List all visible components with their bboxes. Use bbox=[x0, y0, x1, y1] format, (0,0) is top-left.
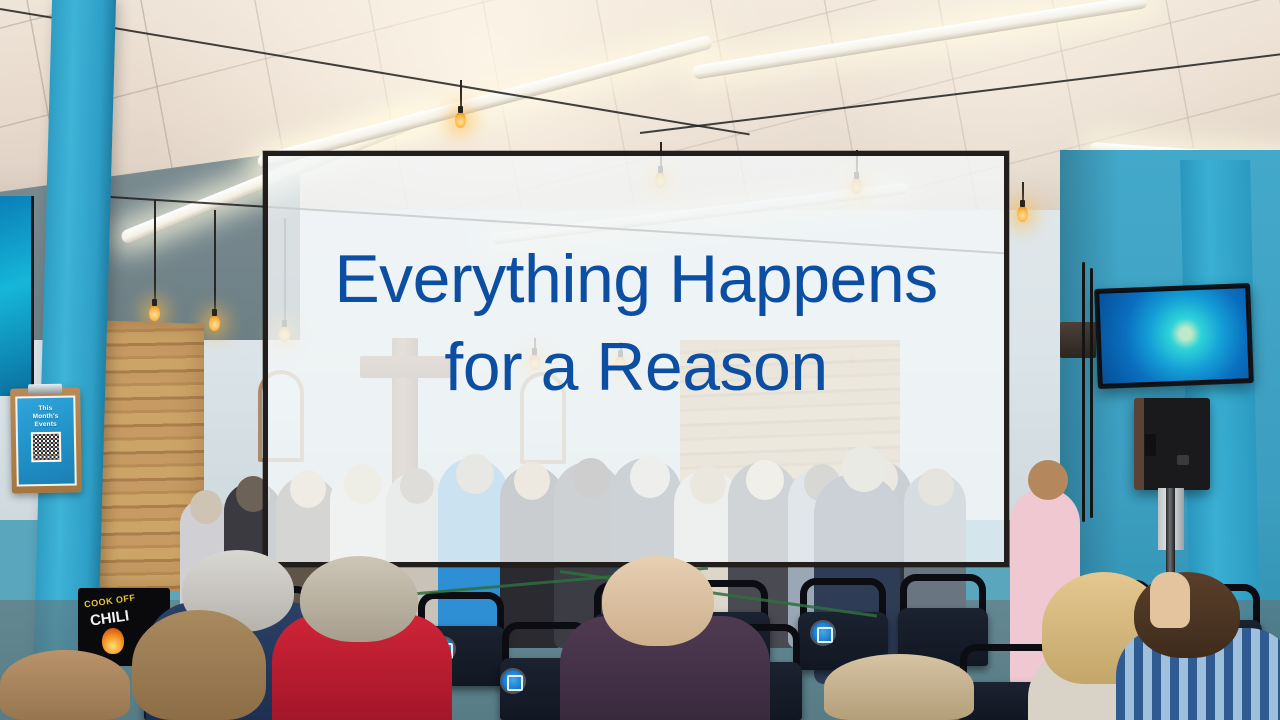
seated-person-bottom-mid bbox=[824, 654, 974, 720]
seated-person-plaid bbox=[1116, 570, 1280, 720]
banner-line-1: COOK OFF bbox=[84, 592, 136, 609]
bulb-drop-2 bbox=[214, 210, 216, 315]
seated-head bbox=[602, 556, 714, 646]
poster-clipboard[interactable]: This Month's Events bbox=[10, 387, 82, 493]
seated-person-purple bbox=[560, 564, 770, 720]
seated-head bbox=[0, 650, 130, 720]
events-poster[interactable]: This Month's Events bbox=[15, 395, 77, 486]
pa-speaker bbox=[1134, 398, 1210, 490]
slide-title-line-1: Everything Happens bbox=[334, 235, 937, 323]
slide-title-line-2: for a Reason bbox=[444, 323, 827, 411]
raised-hand bbox=[1150, 572, 1190, 628]
chair-logo-icon bbox=[812, 622, 834, 644]
qr-code-icon[interactable] bbox=[33, 434, 59, 460]
seated-person-bottom-left bbox=[0, 650, 130, 720]
left-tv-edge bbox=[0, 196, 34, 396]
string-bulb-7 bbox=[1017, 206, 1028, 222]
string-bulb-2 bbox=[209, 315, 220, 331]
poster-title-line-3: Events bbox=[34, 421, 57, 429]
title-overlay-panel: Everything Happens for a Reason bbox=[263, 151, 1009, 567]
seated-head bbox=[132, 610, 266, 720]
string-bulb-1 bbox=[149, 305, 160, 321]
seated-head bbox=[824, 654, 974, 720]
tv-cable-1 bbox=[1082, 262, 1085, 522]
slide-title: Everything Happens for a Reason bbox=[268, 156, 1004, 562]
chair-logo-icon bbox=[502, 670, 524, 692]
wall-mounted-tv bbox=[1094, 283, 1254, 389]
person-head bbox=[190, 490, 222, 524]
tv-cable-2 bbox=[1090, 268, 1093, 518]
seated-person-red bbox=[272, 564, 452, 720]
clipboard-clip-icon bbox=[28, 384, 62, 395]
bulb-drop-1 bbox=[154, 200, 156, 305]
string-bulb-4 bbox=[455, 112, 466, 128]
speaker-handle bbox=[1145, 434, 1156, 456]
hand-shape bbox=[1150, 572, 1190, 628]
slide-stage: This Month's Events bbox=[0, 0, 1280, 720]
person-head bbox=[1028, 460, 1068, 500]
poster-title-line-1: This bbox=[38, 405, 52, 413]
seated-head bbox=[300, 556, 418, 642]
tv-screen bbox=[1099, 288, 1248, 384]
seated-person-blonde-left bbox=[122, 610, 272, 720]
